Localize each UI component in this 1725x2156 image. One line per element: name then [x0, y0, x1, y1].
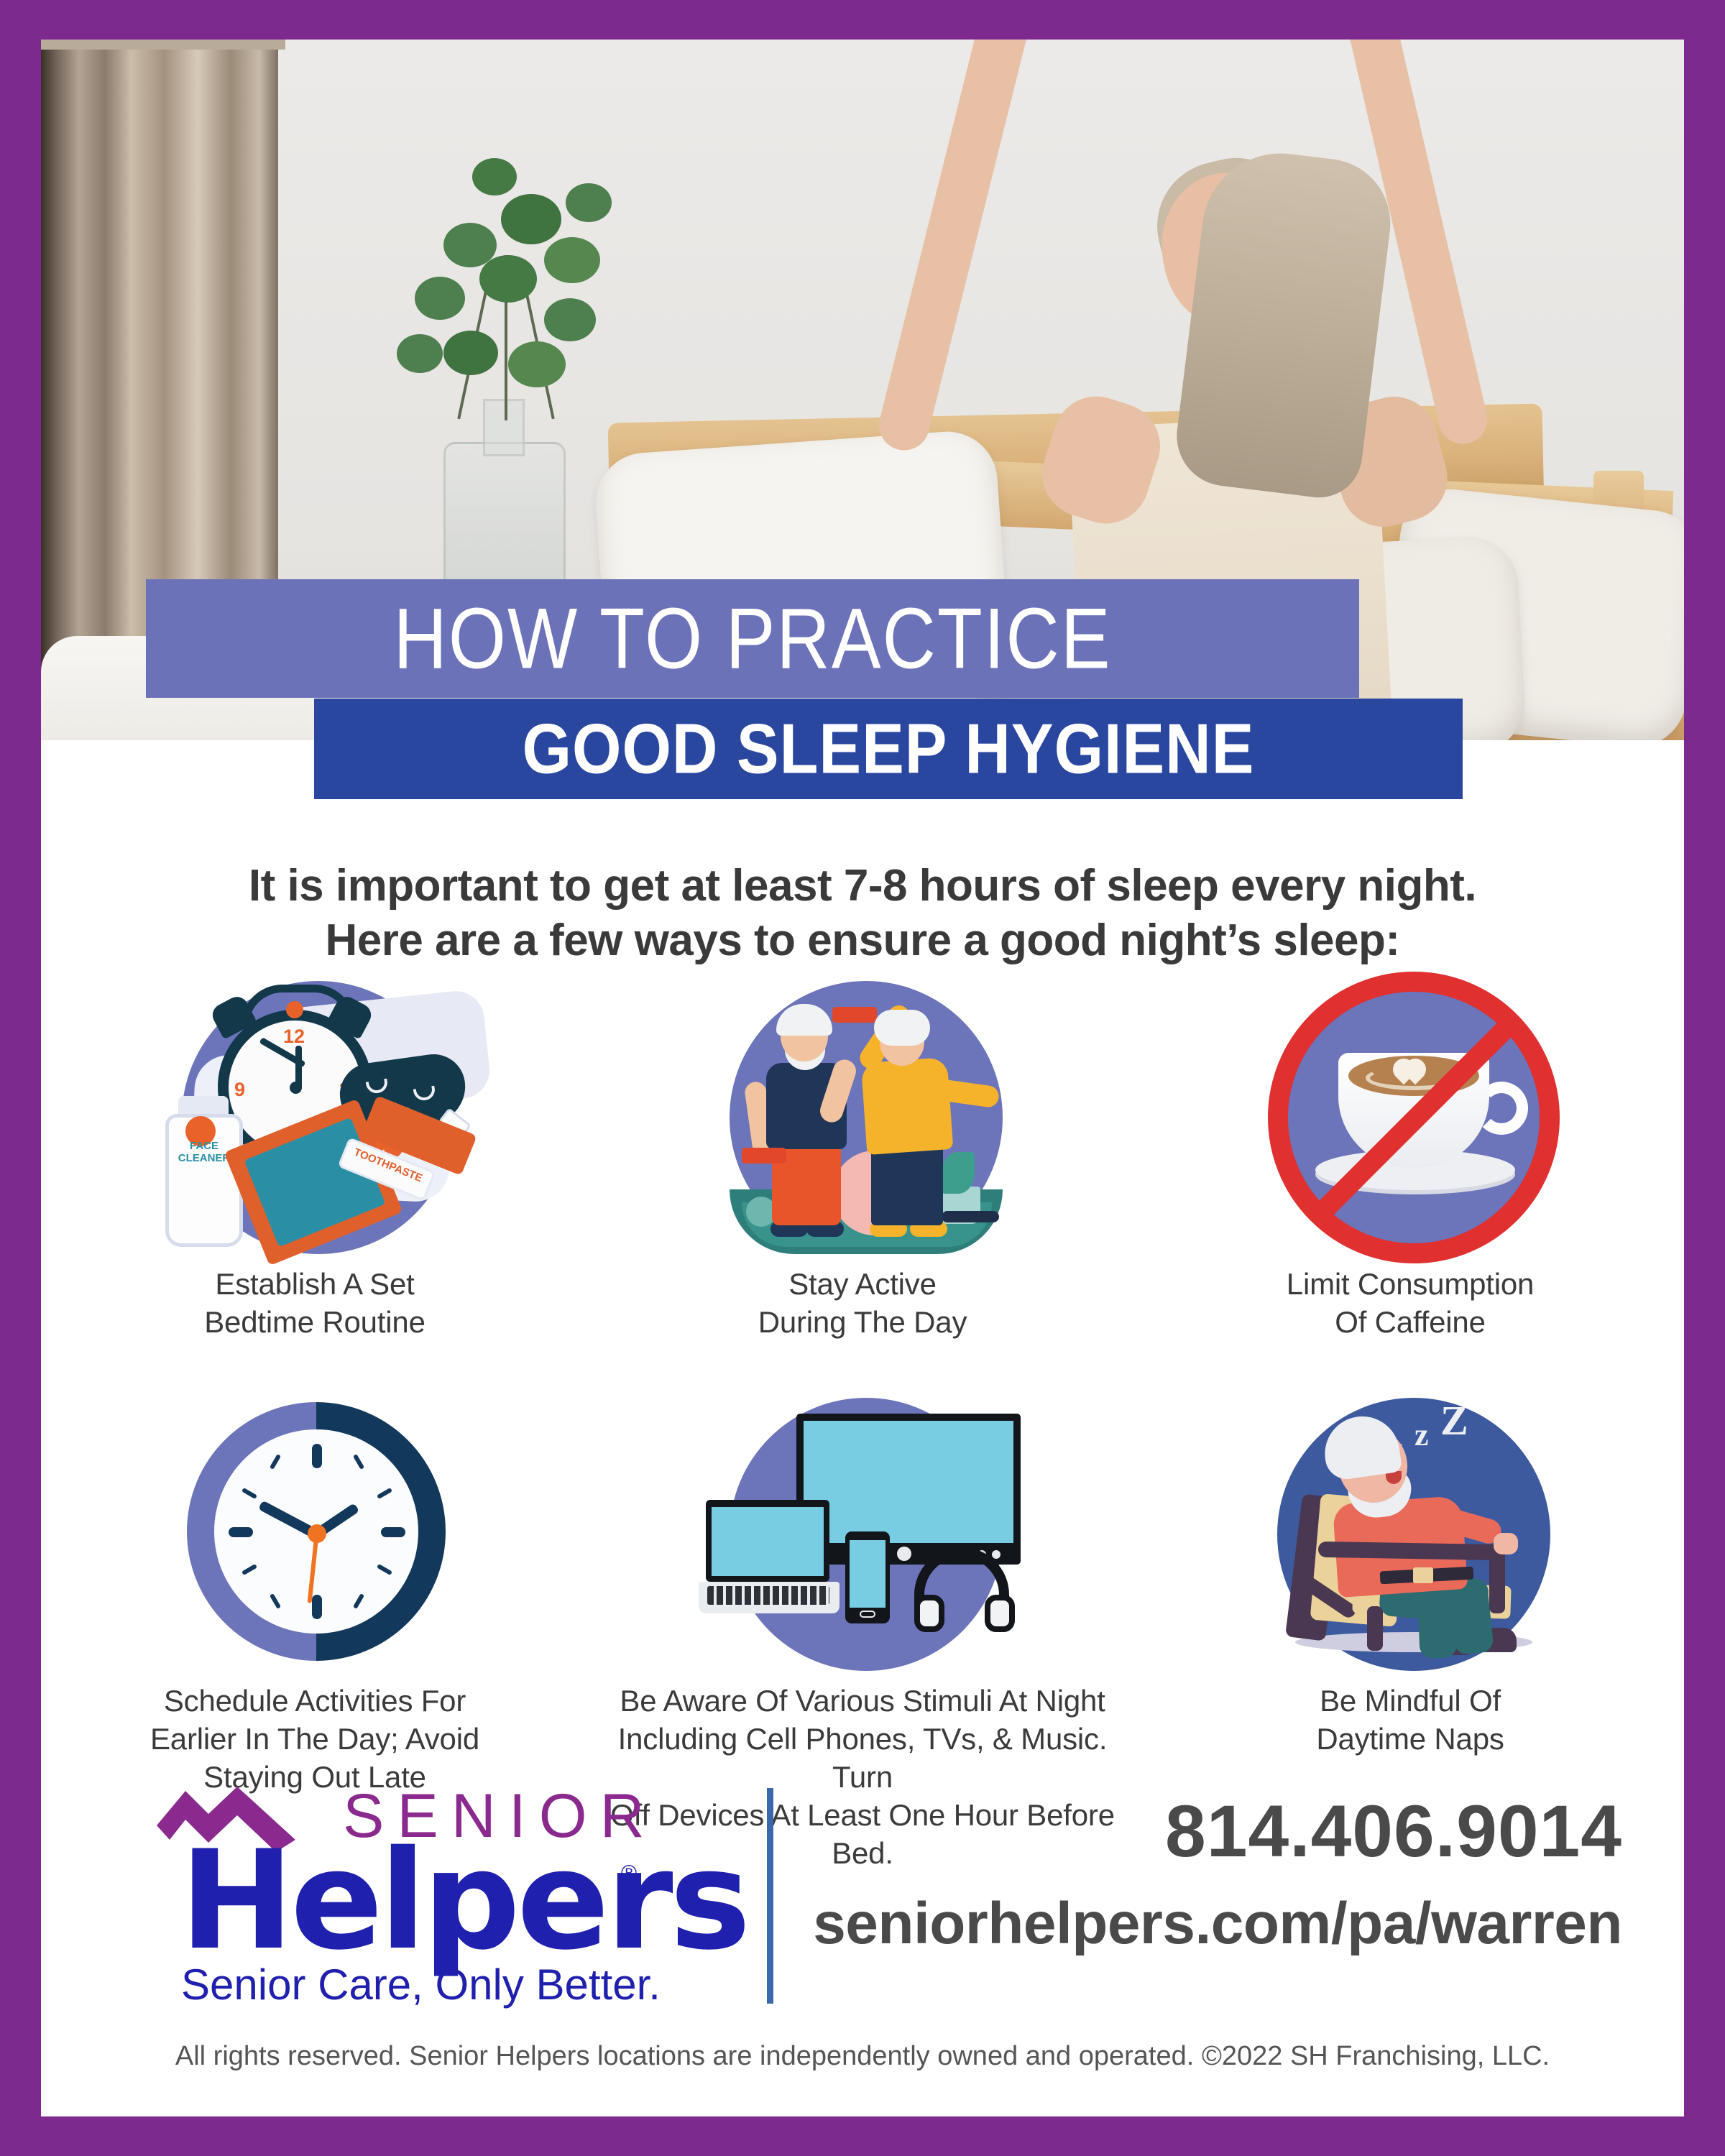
logo-brand-main: Helpers — [180, 1821, 747, 1980]
wall-clock-icon — [157, 1391, 473, 1678]
intro-line-1: It is important to get at least 7-8 hour… — [41, 859, 1684, 913]
tip-card-schedule-activities: Schedule Activities For Earlier In The D… — [41, 1391, 589, 1797]
poster-page: HOW TO PRACTICE GOOD SLEEP HYGIENE It is… — [0, 0, 1725, 2156]
website-url[interactable]: seniorhelpers.com/pa/warren — [803, 1890, 1622, 1958]
devices-icon — [704, 1391, 1021, 1678]
title-line-1: HOW TO PRACTICE — [393, 596, 1111, 681]
tip-card-stay-active: Stay Active During The Day — [589, 974, 1136, 1342]
clock-numeral-9: 9 — [234, 1079, 245, 1101]
intro-line-2: Here are a few ways to ensure a good nig… — [41, 913, 1684, 968]
footer: SENIOR Helpers ® Senior Care, Only Bette… — [41, 1761, 1684, 2116]
tip-caption: Stay Active During The Day — [589, 1266, 1136, 1342]
napping-senior-icon: Z z z — [1252, 1391, 1568, 1678]
intro-paragraph: It is important to get at least 7-8 hour… — [41, 859, 1684, 967]
clock-numeral-12: 12 — [283, 1026, 305, 1048]
legal-disclaimer: All rights reserved. Senior Helpers loca… — [41, 2041, 1684, 2072]
tip-caption: Establish A Set Bedtime Routine — [41, 1266, 589, 1342]
tip-caption: Limit Consumption Of Caffeine — [1136, 1266, 1684, 1342]
registered-mark: ® — [621, 1861, 637, 1886]
senior-helpers-logo[interactable]: SENIOR Helpers ® Senior Care, Only Bette… — [152, 1777, 670, 2014]
title-banner-primary: HOW TO PRACTICE — [146, 579, 1359, 698]
tip-card-limit-caffeine: Limit Consumption Of Caffeine — [1136, 974, 1684, 1342]
bedtime-routine-icon: 12 3 6 9 FACE CLEANER — [157, 974, 473, 1261]
z-large: Z — [1440, 1396, 1468, 1445]
tip-card-bedtime-routine: 12 3 6 9 FACE CLEANER — [41, 974, 589, 1342]
logo-tagline: Senior Care, Only Better. — [181, 1960, 661, 2009]
title-line-2: GOOD SLEEP HYGIENE — [523, 714, 1255, 785]
active-seniors-icon — [704, 974, 1021, 1261]
title-banner-secondary: GOOD SLEEP HYGIENE — [314, 699, 1463, 799]
poster-sheet: HOW TO PRACTICE GOOD SLEEP HYGIENE It is… — [41, 40, 1684, 2116]
footer-divider — [767, 1788, 773, 2004]
tip-card-daytime-naps: Z z z — [1136, 1391, 1684, 1759]
curtain-rod — [41, 40, 285, 50]
tip-caption: Be Mindful Of Daytime Naps — [1136, 1682, 1684, 1759]
no-coffee-icon — [1252, 974, 1568, 1261]
z-medium: z — [1414, 1416, 1429, 1453]
phone-number[interactable]: 814.406.9014 — [817, 1789, 1622, 1874]
